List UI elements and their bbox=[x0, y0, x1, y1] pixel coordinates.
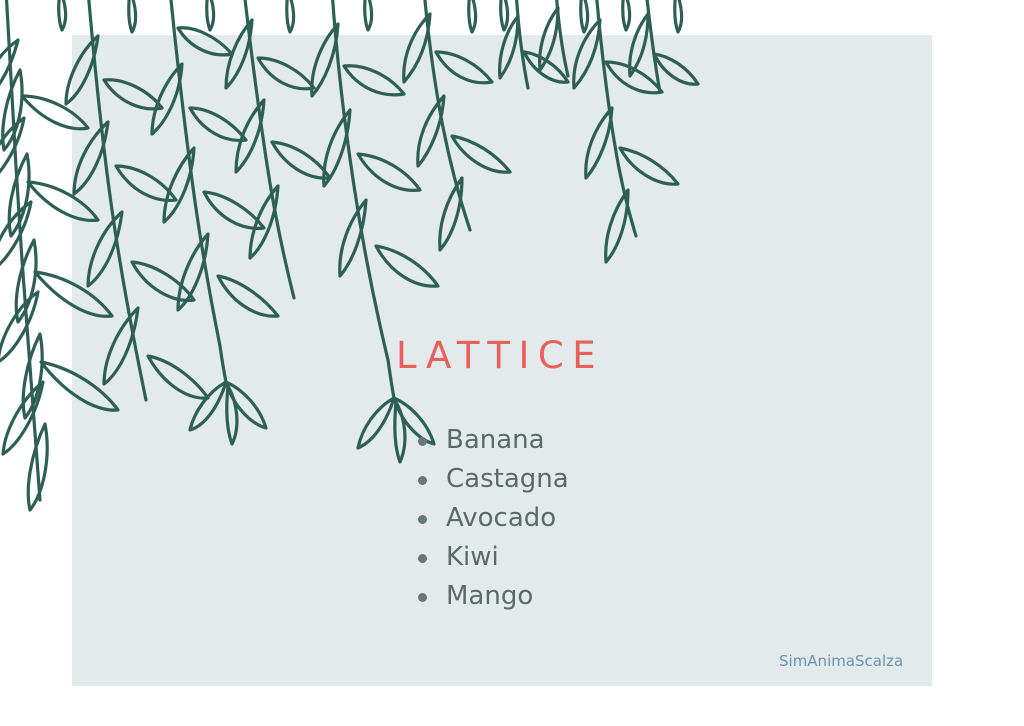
bullet-icon bbox=[418, 437, 427, 446]
credit-label: SimAnimaScalza bbox=[779, 652, 903, 670]
page-title: LATTICE bbox=[396, 336, 896, 377]
list-item-label: Castagna bbox=[446, 464, 569, 494]
list-item: Avocado bbox=[396, 499, 896, 538]
list-item-label: Banana bbox=[446, 425, 545, 455]
list-item-label: Mango bbox=[446, 581, 533, 611]
fruit-list: Banana Castagna Avocado Kiwi Mango bbox=[396, 421, 896, 616]
bullet-icon bbox=[418, 554, 427, 563]
bullet-icon bbox=[418, 515, 427, 524]
list-item-label: Avocado bbox=[446, 503, 556, 533]
list-item-label: Kiwi bbox=[446, 542, 499, 572]
list-item: Mango bbox=[396, 577, 896, 616]
list-item: Banana bbox=[396, 421, 896, 460]
slide-canvas: LATTICE Banana Castagna Avocado Kiwi Man… bbox=[0, 0, 1024, 726]
bullet-icon bbox=[418, 476, 427, 485]
bullet-icon bbox=[418, 593, 427, 602]
list-item: Castagna bbox=[396, 460, 896, 499]
text-content-block: LATTICE Banana Castagna Avocado Kiwi Man… bbox=[396, 336, 896, 616]
list-item: Kiwi bbox=[396, 538, 896, 577]
